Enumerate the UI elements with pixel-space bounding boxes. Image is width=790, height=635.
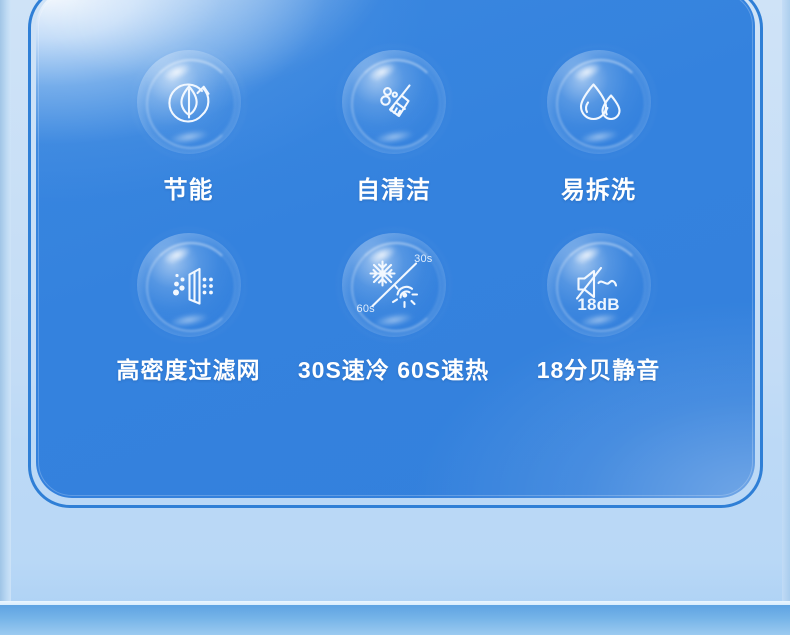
fast-heat-badge: 60s [357,303,375,315]
feature-grid: 节能 [36,0,755,385]
feature-icon-bubble [137,233,241,337]
feature-fast-cool-heat[interactable]: 30s 60s [291,233,496,385]
feature-icon-bubble [547,50,651,154]
feature-self-cleaning[interactable]: 自清洁 [291,50,496,205]
feature-easy-wash[interactable]: 易拆洗 [496,50,701,205]
noise-level-value: 18dB [547,295,651,315]
broom-bubbles-icon [363,71,425,133]
feature-label: 18分贝静音 [537,351,661,385]
feature-energy-saving[interactable]: 节能 [86,50,291,205]
feature-icon-bubble: 30s 60s [342,233,446,337]
appliance-right-edge [782,0,790,635]
feature-row-1: 节能 [36,50,755,205]
fast-cool-badge: 30s [414,253,432,265]
feature-label: 易拆洗 [561,170,636,205]
appliance-lower-band [0,605,790,635]
feature-icon-bubble [137,50,241,154]
feature-label: 节能 [164,170,214,205]
appliance-left-edge [0,0,11,635]
feature-icon-bubble: 18dB [547,233,651,337]
feature-high-density-filter[interactable]: 高密度过滤网 [86,233,291,385]
feature-card: 节能 [36,0,755,498]
feature-icon-bubble [342,50,446,154]
leaf-recycle-icon [158,71,220,133]
product-feature-panel: 节能 [0,0,790,635]
filter-mesh-icon [158,254,220,316]
feature-label: 自清洁 [356,170,431,205]
water-droplets-icon [568,71,630,133]
feature-row-2: 高密度过滤网 30s 60s [36,233,755,385]
feature-label: 高密度过滤网 [117,351,261,385]
feature-quiet-operation[interactable]: 18dB 18分贝静音 [496,233,701,385]
feature-label: 30S速冷 60S速热 [298,351,489,385]
